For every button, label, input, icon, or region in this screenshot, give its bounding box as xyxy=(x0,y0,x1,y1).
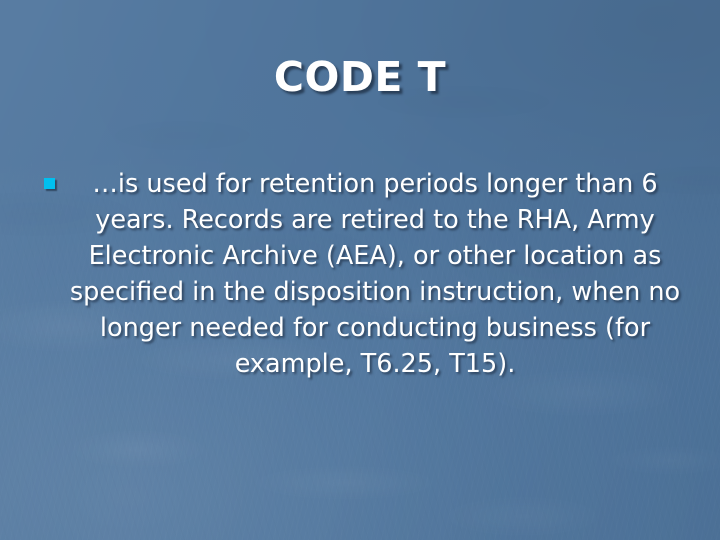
slide-title: CODE T xyxy=(0,56,720,99)
slide-canvas: CODE T …is used for retention periods lo… xyxy=(0,0,720,540)
bullet-item-label: …is used for retention periods longer th… xyxy=(66,166,684,382)
square-bullet-icon xyxy=(44,178,55,189)
slide-content: CODE T …is used for retention periods lo… xyxy=(0,0,720,540)
bullet-list-item: …is used for retention periods longer th… xyxy=(44,166,684,382)
